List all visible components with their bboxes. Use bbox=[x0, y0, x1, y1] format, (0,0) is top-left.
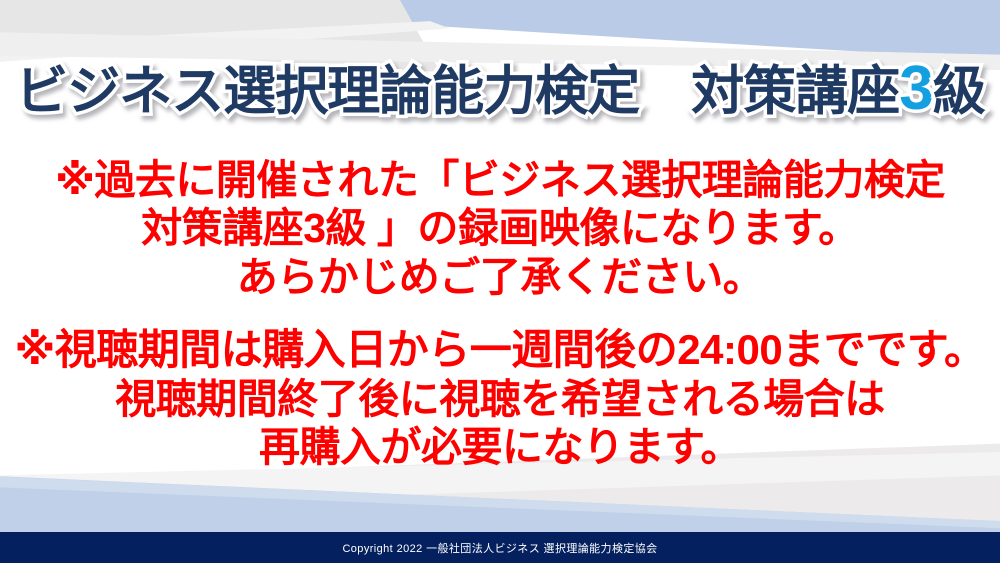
notice-recording-line-2: 対策講座3級 」の録画映像になります。 bbox=[0, 204, 1000, 252]
title-grade-number: 3 bbox=[899, 54, 932, 123]
notice-recording-line-3: あらかじめご了承ください。 bbox=[0, 253, 1000, 301]
notice-recording-block: ※過去に開催された「ビジネス選択理論能力検定 対策講座3級 」の録画映像になりま… bbox=[0, 156, 1000, 301]
top-blue-wedge-decoration bbox=[0, 0, 1000, 60]
footer-copyright-text: Copyright 2022 一般社団法人ビジネス 選択理論能力検定協会 bbox=[342, 540, 657, 556]
notice-viewing-period-block: ※視聴期間は購入日から一週間後の24:00までです。 視聴期間終了後に視聴を希望… bbox=[0, 325, 1000, 471]
notice-viewing-period-line-3: 再購入が必要になります。 bbox=[0, 423, 1000, 471]
footer-bar: Copyright 2022 一般社団法人ビジネス 選択理論能力検定協会 bbox=[0, 532, 1000, 563]
slide-title: ビジネス選択理論能力検定 対策講座3級 bbox=[0, 58, 1000, 120]
bottom-blue-highlight-decoration bbox=[0, 473, 1000, 533]
title-main-text: ビジネス選択理論能力検定 対策講座 bbox=[15, 62, 899, 121]
slide-canvas: ビジネス選択理論能力検定 対策講座3級 ※過去に開催された「ビジネス選択理論能力… bbox=[0, 0, 1000, 563]
top-thin-gray-sliver-decoration bbox=[0, 0, 1000, 62]
bottom-blue-band-decoration bbox=[0, 467, 1000, 533]
notice-viewing-period-line-2: 視聴期間終了後に視聴を希望される場合は bbox=[0, 375, 1000, 423]
notice-recording-line-1: ※過去に開催された「ビジネス選択理論能力検定 bbox=[0, 156, 1000, 204]
notice-viewing-period-line-1: ※視聴期間は購入日から一週間後の24:00までです。 bbox=[0, 325, 1000, 375]
title-grade-suffix: 級 bbox=[933, 62, 985, 121]
slide-title-text: ビジネス選択理論能力検定 対策講座3級 bbox=[15, 58, 984, 120]
